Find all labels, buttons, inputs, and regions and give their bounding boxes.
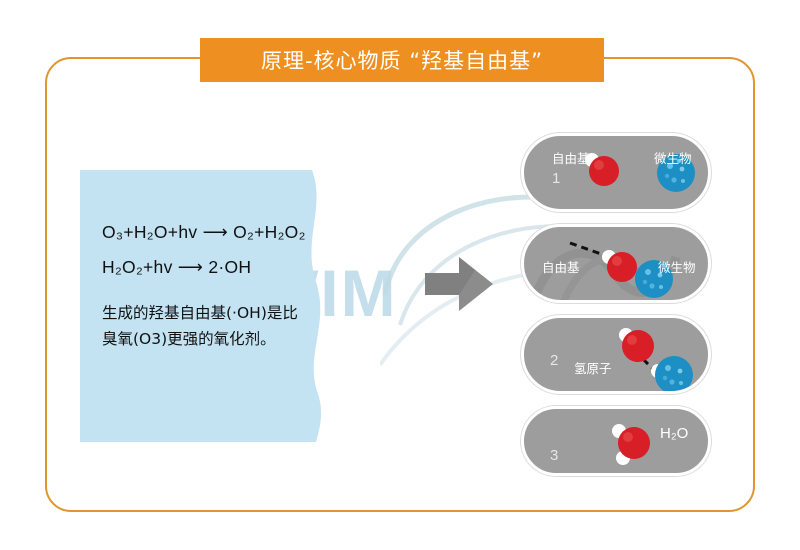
step-1-number: 1 (552, 170, 560, 187)
step-4-number: 3 (550, 447, 558, 464)
radical-oxygen-atom (622, 330, 654, 362)
content-panel-body: O₃+H₂O+hv ⟶ O₂+H₂O₂ H₂O₂+hv ⟶ 2·OH 生成的羟基… (102, 222, 342, 353)
title-banner: 原理-核心物质 “羟基自由基” (200, 38, 604, 82)
step-1-label-radical: 自由基 (552, 148, 590, 167)
radical-oxygen-atom (607, 252, 637, 282)
trajectory-dashed-line (570, 243, 604, 255)
step-2-label-microbe: 微生物 (658, 257, 696, 276)
formula-line-1: O₃+H₂O+hv ⟶ O₂+H₂O₂ (102, 222, 342, 243)
oxygen-atom (618, 427, 650, 459)
page-title: 原理-核心物质 “羟基自由基” (261, 45, 543, 75)
step-4-formula-water: H₂O (660, 425, 688, 442)
right-arrow-icon (425, 255, 495, 313)
slide-root: LASWIM 原理-核心物质 “羟基自由基” O₃+H₂O+hv ⟶ O₂+H₂… (0, 0, 800, 550)
step-1-label-microbe: 微生物 (654, 148, 692, 167)
step-panel-1: 自由基 微生物 1 (521, 133, 711, 212)
step-3-label-hydrogen: 氢原子 (574, 358, 612, 377)
description-line-1: 生成的羟基自由基(·OH)是比 (102, 300, 342, 326)
content-panel: O₃+H₂O+hv ⟶ O₂+H₂O₂ H₂O₂+hv ⟶ 2·OH 生成的羟基… (80, 170, 340, 442)
step-3-number: 2 (550, 352, 558, 369)
panel-description: 生成的羟基自由基(·OH)是比 臭氧(O3)更强的氧化剂。 (102, 300, 342, 353)
flow-arrow (425, 255, 495, 318)
step-panel-2: 自由基 微生物 (521, 224, 711, 303)
radical-oxygen-atom (589, 156, 619, 186)
step-panel-4: 3 H₂O (521, 406, 711, 476)
microbe-sphere (655, 356, 693, 394)
step-panel-3: 2 氢原子 (521, 315, 711, 394)
step-2-label-radical: 自由基 (542, 257, 580, 276)
description-line-2: 臭氧(O3)更强的氧化剂。 (102, 326, 342, 352)
formula-line-2: H₂O₂+hv ⟶ 2·OH (102, 257, 342, 278)
step-4-water-molecule-art (524, 409, 711, 476)
